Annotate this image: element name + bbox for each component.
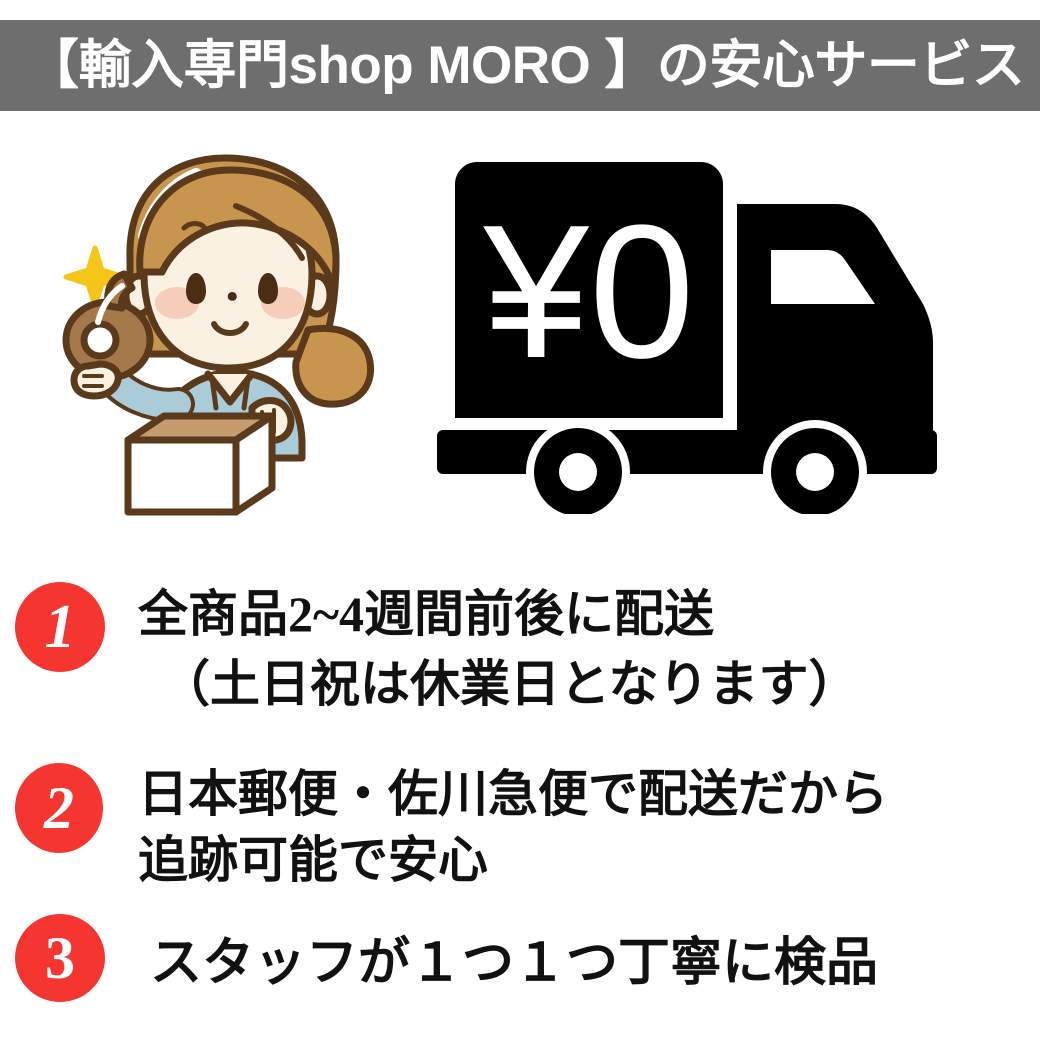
- list-item-2-line-2: 追跡可能で安心: [138, 820, 488, 892]
- hand-left: [74, 364, 118, 396]
- promo-banner-page: 【輸入専門shop MORO 】の安心サービス: [0, 0, 1040, 1040]
- list-badge-2: 2: [15, 763, 103, 853]
- wheel-rear-hub: [559, 453, 597, 491]
- list-badge-1: 1: [15, 582, 105, 672]
- nose: [228, 292, 237, 301]
- ponytail: [296, 328, 371, 404]
- woman-packing-box-illustration: [40, 140, 400, 520]
- page-title: 【輸入専門shop MORO 】の安心サービス: [0, 20, 1024, 111]
- woman-packing-box-svg: [40, 140, 400, 520]
- delivery-truck-icon: ¥0: [415, 142, 1015, 514]
- list-item-1-line-1: 全商品2~4週間前後に配送: [138, 574, 714, 646]
- tape-dispenser-hole: [84, 324, 116, 356]
- list-item-3-line-1: スタッフが１つ１つ丁寧に検品: [150, 920, 878, 995]
- box-front: [128, 440, 236, 512]
- delivery-truck-svg: ¥0: [415, 142, 1015, 514]
- truck-price-label: ¥0: [482, 186, 694, 398]
- header-banner: 【輸入専門shop MORO 】の安心サービス: [0, 20, 1040, 111]
- wheel-front-hub: [796, 453, 834, 491]
- list-item-2-line-1: 日本郵便・佐川急便で配送だから: [138, 754, 888, 826]
- list-item-1-line-2: （土日祝は休業日となります）: [160, 644, 859, 716]
- truck-cab: [737, 204, 933, 434]
- hero-illustration-row: ¥0: [0, 120, 1040, 540]
- list-badge-3: 3: [15, 914, 105, 1002]
